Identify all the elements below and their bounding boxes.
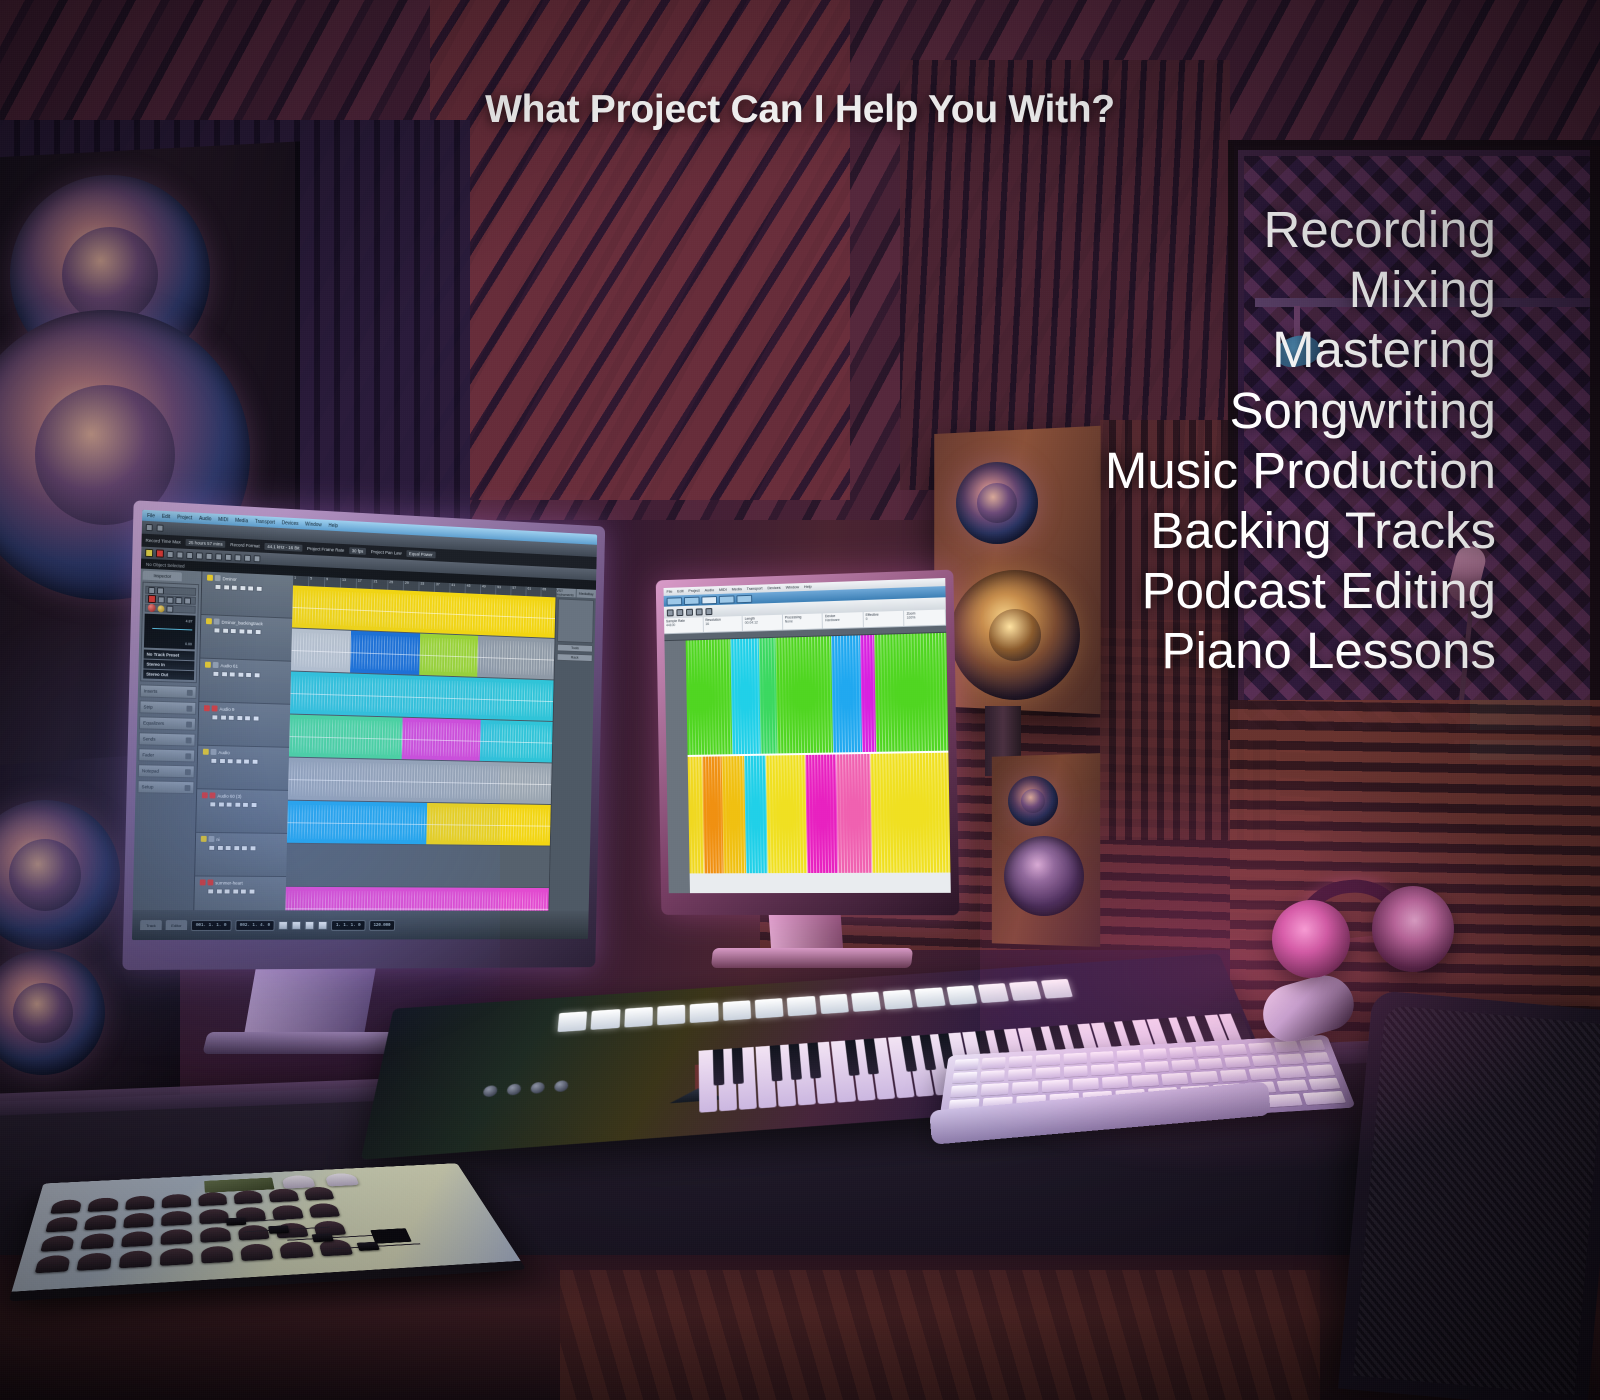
track-q-button[interactable]	[253, 672, 260, 678]
mixer-knob[interactable]	[123, 1212, 154, 1228]
track-r-button[interactable]	[233, 845, 240, 851]
keyboard-key[interactable]	[1161, 1073, 1189, 1085]
mixer-knob[interactable]	[303, 1186, 334, 1200]
keyboard-key[interactable]	[1277, 1053, 1303, 1065]
keyboard-key[interactable]	[1274, 1041, 1300, 1052]
mute-tool-icon[interactable]	[225, 553, 232, 560]
transport-record-button[interactable]	[318, 921, 328, 930]
track-record-icon[interactable]	[212, 705, 218, 711]
editor-zoom-tool-icon[interactable]	[676, 609, 683, 616]
midi-pad[interactable]	[915, 987, 946, 1007]
track-w-button[interactable]	[246, 629, 253, 635]
keyboard-key[interactable]	[1072, 1078, 1099, 1091]
keyboard-key[interactable]	[954, 1059, 979, 1071]
keyboard-key[interactable]	[952, 1071, 977, 1083]
inspector-section-sends[interactable]: Sends	[139, 732, 196, 746]
keyboard-key[interactable]	[1012, 1081, 1039, 1094]
audio-clip[interactable]	[402, 718, 481, 761]
midi-knob-2[interactable]	[506, 1083, 521, 1095]
track-q-button[interactable]	[249, 845, 256, 851]
editor-tab-1[interactable]	[667, 597, 683, 605]
inspector-settings-gear-icon[interactable]	[166, 605, 173, 612]
keyboard-key[interactable]	[1308, 1078, 1340, 1091]
track-e-button[interactable]	[227, 758, 234, 764]
track-s-button[interactable]	[223, 584, 230, 590]
keyboard-key[interactable]	[1102, 1076, 1129, 1089]
inspector-section-strip[interactable]: Strip	[139, 700, 196, 715]
daw-menu-media[interactable]: Media	[235, 517, 248, 524]
daw-menu-project[interactable]: Project	[177, 514, 192, 521]
keyboard-key[interactable]	[1219, 1069, 1247, 1081]
track-row[interactable]: Audio	[197, 746, 289, 791]
midi-pad[interactable]	[722, 1000, 751, 1021]
keyboard-key[interactable]	[1277, 1079, 1309, 1092]
record-enable-button[interactable]	[156, 549, 164, 557]
track-record-icon[interactable]	[210, 792, 216, 798]
track-record-icon[interactable]	[215, 575, 221, 581]
track-row[interactable]: Dminor	[201, 571, 293, 618]
keyboard-key[interactable]	[1299, 1040, 1325, 1051]
track-q-button[interactable]	[248, 889, 255, 895]
mixer-knob[interactable]	[50, 1199, 82, 1214]
track-color-icon[interactable]	[207, 575, 213, 581]
track-button-row[interactable]	[209, 801, 285, 808]
keyboard-key[interactable]	[1277, 1066, 1306, 1078]
inserts-gear-icon[interactable]	[187, 689, 193, 695]
midi-pad[interactable]	[557, 1011, 587, 1032]
track-type-icon[interactable]	[157, 587, 164, 594]
keyboard-key[interactable]	[1225, 1056, 1251, 1068]
track-w-button[interactable]	[247, 585, 254, 591]
event-lane[interactable]	[286, 844, 550, 888]
track-button-row[interactable]	[213, 627, 289, 636]
mixer-knob[interactable]	[198, 1192, 227, 1206]
keyboard-key[interactable]	[1063, 1065, 1087, 1077]
daw-screen[interactable]: File Edit Project Audio MIDI Media Trans…	[132, 510, 597, 940]
track-color-icon[interactable]	[203, 749, 209, 755]
editor-menu-window[interactable]: Window	[786, 585, 799, 589]
track-m-button[interactable]	[210, 758, 217, 764]
track-s-button[interactable]	[220, 715, 227, 721]
scissors-tool-icon[interactable]	[186, 551, 193, 558]
track-row[interactable]: Audio 61	[199, 659, 291, 705]
keyboard-key[interactable]	[1009, 1056, 1033, 1068]
track-r-button[interactable]	[239, 585, 246, 591]
event-lane[interactable]	[288, 758, 552, 805]
midi-pad[interactable]	[851, 992, 881, 1012]
midi-pad[interactable]	[657, 1005, 685, 1026]
audio-clip[interactable]	[419, 634, 477, 677]
track-row[interactable]: Audio 9	[198, 702, 290, 748]
track-color-icon[interactable]	[200, 879, 206, 885]
midi-knob-3[interactable]	[530, 1082, 545, 1094]
audio-clip[interactable]	[287, 801, 427, 845]
keyboard-key[interactable]	[1190, 1071, 1218, 1083]
audio-clip[interactable]	[291, 628, 351, 672]
track-r-button[interactable]	[232, 889, 239, 895]
track-m-button[interactable]	[212, 671, 219, 677]
track-record-icon[interactable]	[209, 836, 215, 842]
track-s-button[interactable]	[215, 888, 222, 894]
tempo-display[interactable]: 120.000	[369, 920, 395, 931]
track-r-button[interactable]	[237, 672, 244, 678]
daw-menu-audio[interactable]: Audio	[199, 515, 212, 522]
mixer-jog-pad[interactable]	[370, 1228, 412, 1244]
track-s-button[interactable]	[218, 801, 225, 807]
waveform-band[interactable]	[805, 754, 838, 873]
editor-menu-edit[interactable]: Edit	[677, 589, 683, 593]
track-row[interactable]: Audio 60 (3)	[196, 789, 288, 834]
editor-menu-transport[interactable]: Transport	[747, 586, 763, 591]
waveform-band[interactable]	[766, 755, 807, 873]
midi-pad[interactable]	[819, 994, 849, 1014]
track-header: Audio 9	[204, 705, 287, 713]
transport-stop-button[interactable]	[292, 921, 302, 930]
keyboard-key[interactable]	[1304, 1052, 1331, 1064]
audio-clip[interactable]	[290, 671, 554, 720]
track-s-button[interactable]	[217, 845, 224, 851]
track-r-button[interactable]	[234, 802, 241, 808]
midi-pad[interactable]	[755, 998, 784, 1018]
track-button-row[interactable]	[210, 758, 286, 766]
mixer-master-knob-2[interactable]	[324, 1173, 359, 1187]
track-e-button[interactable]	[228, 715, 235, 721]
keyboard-key[interactable]	[1306, 1064, 1335, 1076]
audio-clip[interactable]	[289, 715, 403, 760]
right-panel-tools-button[interactable]: Tools	[557, 644, 593, 653]
mixer-knob[interactable]	[125, 1195, 155, 1209]
inspector-output-routing[interactable]: Stereo Out	[143, 669, 194, 680]
track-m-button[interactable]	[211, 714, 218, 720]
editor-menu-midi[interactable]: MIDI	[719, 588, 727, 592]
midi-pad[interactable]	[1009, 981, 1041, 1001]
inspector-panel[interactable]: Inspector	[133, 569, 202, 911]
editor-select-tool-icon[interactable]	[667, 609, 674, 616]
right-locator-display[interactable]: 002. 1. 4. 0	[235, 920, 275, 931]
equalizers-gear-icon[interactable]	[186, 721, 192, 727]
keyboard-key[interactable]	[1198, 1058, 1223, 1070]
editor-menu-project[interactable]: Project	[688, 589, 700, 593]
keyboard-key[interactable]	[1091, 1064, 1115, 1076]
track-m-button[interactable]	[213, 627, 220, 633]
editor-tab-2[interactable]	[684, 596, 700, 604]
track-button-row[interactable]	[211, 714, 287, 722]
inspector-section-equalizers[interactable]: Equalizers	[139, 716, 196, 730]
midi-pad[interactable]	[1041, 979, 1073, 999]
mixer-knob[interactable]	[35, 1255, 72, 1274]
draw-tool-icon[interactable]	[234, 554, 241, 561]
editor-menu-devices[interactable]: Devices	[767, 586, 780, 590]
color-tool-icon[interactable]	[254, 555, 261, 562]
mixer-knob[interactable]	[233, 1190, 263, 1204]
track-q-button[interactable]	[254, 629, 261, 635]
setup-gear-icon[interactable]	[185, 785, 191, 791]
keyboard-key[interactable]	[1222, 1044, 1247, 1055]
daw-menu-transport[interactable]: Transport	[255, 518, 275, 525]
audio-clip[interactable]	[426, 803, 551, 846]
keyboard-key[interactable]	[1143, 1048, 1167, 1059]
audio-clip[interactable]	[285, 887, 549, 911]
keyboard-key[interactable]	[1036, 1067, 1060, 1079]
keyboard-key[interactable]	[981, 1083, 1008, 1096]
inspector-preset-row[interactable]: No Track Preset	[144, 650, 195, 661]
track-m-button[interactable]	[215, 584, 222, 590]
inspector-eq-curve[interactable]: 4.87 0.00	[144, 614, 196, 650]
track-color-icon[interactable]	[204, 705, 210, 711]
audio-clip[interactable]	[288, 758, 552, 804]
inspector-tab[interactable]: Inspector	[143, 571, 182, 582]
editor-play-tool-icon[interactable]	[686, 608, 693, 615]
range-tool-icon[interactable]	[176, 551, 183, 558]
mixer-knob[interactable]	[161, 1228, 192, 1245]
keyboard-key[interactable]	[982, 1057, 1006, 1069]
event-lane[interactable]	[285, 887, 549, 911]
arrange-area[interactable]: 1591317212529333741454953576165697377818…	[285, 576, 555, 911]
track-q-button[interactable]	[250, 802, 257, 808]
track-w-button[interactable]	[242, 802, 249, 808]
track-expand-icon[interactable]	[148, 586, 155, 593]
glue-tool-icon[interactable]	[196, 552, 203, 559]
midi-pad[interactable]	[690, 1002, 718, 1023]
keyboard-key[interactable]	[1145, 1061, 1170, 1073]
redo-icon[interactable]	[157, 524, 164, 531]
mixer-knob[interactable]	[121, 1230, 153, 1247]
inspector-button-row-2[interactable]	[145, 604, 196, 614]
sends-gear-icon[interactable]	[186, 737, 192, 743]
track-button-row[interactable]	[212, 671, 288, 679]
waveform-band[interactable]	[836, 754, 872, 873]
daw-menu-devices[interactable]: Devices	[282, 520, 299, 527]
editor-scrub-tool-icon[interactable]	[696, 608, 703, 615]
mixer-knob[interactable]	[161, 1210, 191, 1225]
track-w-button[interactable]	[244, 715, 251, 721]
track-r-button[interactable]	[236, 715, 243, 721]
track-e-button[interactable]	[226, 802, 233, 808]
waveform-band[interactable]	[758, 638, 777, 754]
daw-menu-window[interactable]: Window	[305, 521, 322, 528]
track-e-button[interactable]	[224, 888, 231, 894]
daw-menu-midi[interactable]: MIDI	[218, 516, 228, 522]
mixer-knob[interactable]	[268, 1188, 299, 1202]
mixer-knob[interactable]	[160, 1248, 192, 1266]
waveform-band[interactable]	[870, 753, 950, 873]
waveform-channel-left[interactable]	[664, 633, 948, 757]
waveform-band[interactable]	[831, 635, 861, 752]
track-button-row[interactable]	[208, 845, 284, 852]
editor-tab-4[interactable]	[736, 594, 752, 602]
keyboard-key[interactable]	[1036, 1054, 1059, 1066]
track-s-button[interactable]	[219, 758, 226, 764]
track-m-button[interactable]	[209, 801, 216, 807]
track-r-button[interactable]	[238, 628, 245, 634]
transport-prev-button[interactable]	[278, 921, 288, 930]
arrow-tool-icon[interactable]	[167, 550, 174, 557]
midi-pad[interactable]	[591, 1009, 620, 1030]
tab-vst-instruments[interactable]: VST Instruments	[556, 588, 575, 597]
keyboard-key[interactable]	[1063, 1053, 1087, 1065]
midi-knob-4[interactable]	[554, 1080, 569, 1092]
track-row[interactable]: ni	[195, 833, 287, 877]
track-e-button[interactable]	[229, 671, 236, 677]
keyboard-key[interactable]	[1042, 1079, 1068, 1092]
track-list[interactable]: DminorDminor_backingtrackAudio 61Audio 9…	[193, 571, 293, 910]
track-e-button[interactable]	[230, 628, 237, 634]
daw-menu-file[interactable]: File	[147, 512, 155, 518]
notepad-gear-icon[interactable]	[185, 769, 191, 775]
waveform-channel-right[interactable]	[666, 753, 950, 874]
erase-tool-icon[interactable]	[206, 552, 213, 559]
track-color-icon[interactable]	[202, 792, 208, 798]
right-panel[interactable]: VST Instruments MediaBay Tools Rack	[548, 588, 596, 911]
keyboard-key[interactable]	[1302, 1091, 1346, 1105]
midi-pad[interactable]	[978, 983, 1010, 1003]
midi-pad[interactable]	[624, 1007, 653, 1028]
inspector-section-inserts[interactable]: Inserts	[140, 684, 197, 699]
track-m-button[interactable]	[208, 845, 215, 851]
position-display[interactable]: 1. 1. 1. 0	[331, 920, 365, 931]
audio-clip[interactable]	[477, 636, 555, 680]
transport-play-button[interactable]	[305, 921, 315, 930]
keyboard-key[interactable]	[1249, 1068, 1278, 1080]
midi-pad[interactable]	[946, 985, 977, 1005]
audio-clip[interactable]	[480, 720, 553, 763]
track-e-button[interactable]	[231, 585, 238, 591]
piano-black-key[interactable]	[731, 1048, 743, 1084]
event-lane[interactable]	[289, 715, 553, 764]
track-w-button[interactable]	[245, 672, 252, 678]
mixer-knob[interactable]	[81, 1233, 115, 1250]
keyboard-key[interactable]	[1251, 1055, 1277, 1067]
left-locator-display[interactable]: 001. 1. 1. 0	[191, 920, 231, 931]
mixer-knob[interactable]	[40, 1235, 75, 1252]
mixer-knob[interactable]	[88, 1197, 119, 1212]
event-lane[interactable]	[287, 801, 551, 847]
track-record-icon[interactable]	[214, 618, 220, 624]
mixer-knob[interactable]	[119, 1250, 152, 1268]
keyboard-key[interactable]	[950, 1085, 978, 1098]
inspector-lock-icon[interactable]	[184, 597, 191, 604]
track-color-icon[interactable]	[205, 662, 211, 668]
inspector-monitor-icon[interactable]	[158, 596, 165, 603]
inspector-section-notepad[interactable]: Notepad	[138, 764, 195, 778]
solo-button[interactable]	[145, 549, 153, 557]
waveform-band[interactable]	[744, 756, 768, 874]
event-lanes[interactable]	[285, 585, 555, 910]
inspector-record-knob[interactable]	[148, 604, 156, 612]
tab-editor[interactable]: Editor	[166, 920, 188, 930]
keyboard-key[interactable]	[1132, 1074, 1159, 1086]
track-color-icon[interactable]	[206, 618, 212, 624]
mixer-fader-cap[interactable]	[268, 1225, 289, 1234]
inspector-section-setup[interactable]: Setup	[137, 780, 194, 794]
midi-knob-row[interactable]	[481, 1076, 631, 1106]
tab-mediabay[interactable]: MediaBay	[577, 589, 596, 598]
editor-menu-media[interactable]: Media	[732, 587, 742, 591]
inspector-record-icon[interactable]	[148, 595, 156, 603]
track-q-button[interactable]	[251, 759, 258, 765]
midi-pad[interactable]	[787, 996, 816, 1016]
track-w-button[interactable]	[240, 889, 247, 895]
play-tool-icon[interactable]	[244, 554, 251, 561]
undo-icon[interactable]	[146, 524, 153, 531]
track-r-button[interactable]	[235, 758, 242, 764]
track-w-button[interactable]	[241, 845, 248, 851]
event-lane[interactable]	[290, 671, 554, 721]
track-s-button[interactable]	[221, 671, 228, 677]
track-e-button[interactable]	[225, 845, 232, 851]
track-record-icon[interactable]	[213, 662, 219, 668]
mixer-knob[interactable]	[46, 1216, 80, 1232]
track-record-icon[interactable]	[211, 749, 217, 755]
right-panel-tabs[interactable]: VST Instruments MediaBay	[556, 588, 596, 598]
track-q-button[interactable]	[255, 586, 262, 592]
keyboard-key[interactable]	[1195, 1045, 1220, 1056]
keyboard-key[interactable]	[1116, 1050, 1140, 1062]
track-q-button[interactable]	[252, 715, 259, 721]
keyboard-key[interactable]	[1090, 1051, 1114, 1063]
mixer-fader-cap[interactable]	[312, 1233, 334, 1242]
keyboard-key[interactable]	[1169, 1047, 1194, 1058]
track-record-icon[interactable]	[207, 879, 213, 885]
waveform-band[interactable]	[730, 638, 760, 754]
track-button-row[interactable]	[215, 584, 291, 593]
audio-clip[interactable]	[350, 631, 420, 675]
fader-gear-icon[interactable]	[185, 753, 191, 759]
track-m-button[interactable]	[207, 888, 214, 894]
track-color-icon[interactable]	[201, 836, 207, 842]
mixer-knob[interactable]	[162, 1194, 191, 1208]
editor-tab-active[interactable]	[701, 596, 717, 604]
daw-menu-edit[interactable]: Edit	[162, 513, 171, 519]
zoom-tool-icon[interactable]	[215, 553, 222, 560]
editor-menu-help[interactable]: Help	[804, 585, 812, 589]
editor-snap-icon[interactable]	[705, 608, 712, 615]
right-panel-rack-button[interactable]: Rack	[557, 653, 593, 662]
mixer-knob[interactable]	[77, 1252, 112, 1270]
track-s-button[interactable]	[222, 628, 229, 634]
keyboard-key[interactable]	[1248, 1042, 1273, 1053]
piano-black-key[interactable]	[712, 1049, 724, 1086]
inspector-solo-icon[interactable]	[175, 597, 182, 604]
track-button-row[interactable]	[207, 888, 283, 894]
editor-menu-file[interactable]: File	[666, 590, 672, 594]
mixer-knob[interactable]	[84, 1214, 116, 1230]
inspector-section-fader[interactable]: Fader	[138, 748, 195, 762]
tab-track[interactable]: Track	[140, 920, 162, 930]
transport-bar[interactable]: Track Editor 001. 1. 1. 0 002. 1. 4. 0 1…	[132, 910, 589, 940]
waveform-band[interactable]	[702, 756, 723, 873]
keyboard-key[interactable]	[1171, 1059, 1196, 1071]
midi-pad[interactable]	[883, 989, 913, 1009]
midi-knob-1[interactable]	[483, 1085, 498, 1097]
editor-menu-audio[interactable]: Audio	[705, 588, 715, 592]
track-w-button[interactable]	[243, 759, 250, 765]
track-row[interactable]: Dminor_backingtrack	[200, 615, 292, 662]
editor-tab-3[interactable]	[719, 595, 735, 603]
daw-menu-help[interactable]: Help	[328, 522, 338, 528]
strip-gear-icon[interactable]	[186, 705, 192, 711]
audio-editor-screen[interactable]: File Edit Project Audio MIDI Media Trans…	[664, 578, 951, 893]
inspector-input-routing[interactable]: Stereo In	[143, 660, 194, 671]
keyboard-key[interactable]	[980, 1070, 1005, 1082]
mixer-fader-cap[interactable]	[226, 1217, 246, 1225]
waveform-band[interactable]	[775, 636, 833, 753]
inspector-monitor-knob[interactable]	[158, 605, 165, 612]
keyboard-key[interactable]	[1008, 1068, 1032, 1080]
waveform-band[interactable]	[721, 756, 745, 873]
inspector-mute-icon[interactable]	[167, 596, 174, 603]
keyboard-key[interactable]	[1118, 1062, 1143, 1074]
